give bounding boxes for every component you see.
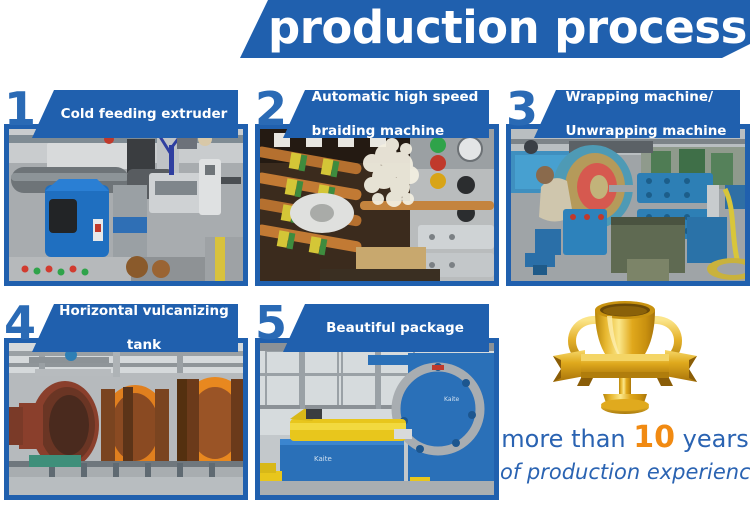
step-label-line1: Automatic high speed xyxy=(312,89,479,106)
step-label-line2: tank xyxy=(59,337,229,354)
tagline-prefix: more than xyxy=(501,425,625,453)
cold-feeding-extruder-photo xyxy=(4,124,248,286)
process-step-card: 5 Beautiful package xyxy=(255,300,499,500)
experience-badge: more than 10 years of production experie… xyxy=(500,292,750,515)
horizontal-vulcanizing-tank-photo xyxy=(4,338,248,500)
header-banner: production process xyxy=(240,0,750,58)
step-label: Horizontal vulcanizing tank xyxy=(32,304,238,352)
step-label: Cold feeding extruder xyxy=(32,90,238,138)
step-label: Beautiful package xyxy=(283,304,489,352)
step-label-text: Automatic high speed braiding machine xyxy=(312,89,479,140)
automatic-high-speed-braiding-machine-photo xyxy=(255,124,499,286)
process-step-card: 2 Automatic high speed braiding machine xyxy=(255,86,499,286)
page-title: production process xyxy=(268,5,747,54)
experience-tagline-line1: more than 10 years xyxy=(500,420,750,455)
step-label-line2: Unwrapping machine xyxy=(566,123,727,140)
tagline-suffix: years xyxy=(683,425,749,453)
process-step-card: 3 Wrapping machine/ Unwrapping machine xyxy=(506,86,750,286)
process-step-card: 1 Cold feeding extruder xyxy=(4,86,248,286)
wrapping-unwrapping-machine-photo xyxy=(506,124,750,286)
tagline-number: 10 xyxy=(633,420,675,455)
step-label: Automatic high speed braiding machine xyxy=(283,90,489,138)
trophy-icon xyxy=(541,294,709,424)
svg-text:Kaite: Kaite xyxy=(314,455,332,463)
step-label-line2: braiding machine xyxy=(312,123,479,140)
svg-text:Kaite: Kaite xyxy=(444,396,460,403)
step-label-text: Horizontal vulcanizing tank xyxy=(59,303,229,354)
step-label-line1: Horizontal vulcanizing xyxy=(59,303,229,320)
beautiful-package-photo: Kaite Kaite xyxy=(255,338,499,500)
step-label-line1: Cold feeding extruder xyxy=(61,106,228,123)
step-label-line1: Wrapping machine/ xyxy=(566,89,727,106)
step-label-text: Beautiful package xyxy=(326,320,464,337)
step-label: Wrapping machine/ Unwrapping machine xyxy=(534,90,740,138)
step-label-text: Cold feeding extruder xyxy=(61,106,228,123)
step-label-text: Wrapping machine/ Unwrapping machine xyxy=(566,89,727,140)
experience-tagline-line2: of production experience xyxy=(500,460,750,484)
process-step-card: 4 Horizontal vulcanizing tank xyxy=(4,300,248,500)
step-label-line1: Beautiful package xyxy=(326,320,464,337)
